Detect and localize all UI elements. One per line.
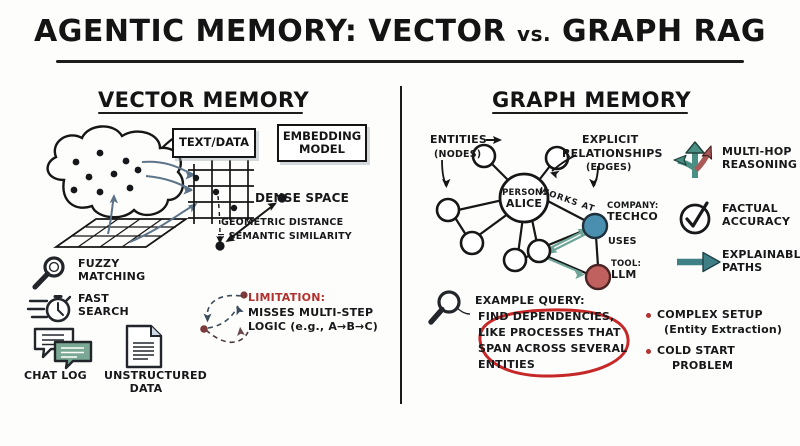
semantic-distance-dot	[215, 241, 224, 250]
cloud-vector-dots	[71, 150, 142, 196]
example-query-line-1: FIND DEPENDENCIES,	[478, 311, 614, 324]
node-label-alice: ALICE	[500, 198, 548, 211]
title-underline	[56, 60, 744, 63]
drawback-label-cold-start: COLD START	[657, 345, 735, 358]
annotation-entities-arrows	[424, 130, 494, 210]
example-query-line-3: SPAN ACROSS SEVERAL	[478, 343, 627, 356]
title-part-1: AGENTIC MEMORY: VECTOR	[34, 14, 517, 49]
limitation-body-line-1: MISSES MULTI-STEP	[248, 307, 373, 320]
embedding-model-box[interactable]: EMBEDDING MODEL	[277, 124, 367, 162]
left-panel-heading-underline	[98, 112, 303, 114]
page-title: AGENTIC MEMORY: VECTOR vs. GRAPH RAG	[0, 14, 800, 49]
annotation-explicit-line-1: EXPLICIT	[582, 134, 638, 147]
benefit-label-multi-hop-reasoning: MULTI-HOP REASONING	[722, 146, 797, 172]
feature-label-fuzzy-matching: FUZZY MATCHING	[78, 258, 145, 284]
drawback-bullet-2	[646, 349, 656, 359]
limitation-heading: LIMITATION:	[248, 292, 325, 305]
panel-divider	[400, 86, 402, 404]
annotation-explicit-arrows	[540, 150, 620, 196]
graph-node-mid	[528, 240, 550, 262]
source-label-chat-log: CHAT LOG	[24, 370, 87, 383]
geometric-distance-line-2: = SEMANTIC SIMILARITY	[217, 231, 352, 242]
edge-label-uses: USES	[608, 236, 637, 247]
right-arrow-icon	[676, 250, 726, 276]
right-panel-heading-underline	[492, 112, 688, 114]
source-label-unstructured-data: UNSTRUCTURED DATA	[104, 370, 188, 396]
dense-vector-grid	[188, 160, 254, 224]
benefit-label-factual-accuracy: FACTUAL ACCURACY	[722, 203, 790, 229]
example-query-line-2: LIKE PROCESSES THAT	[478, 327, 621, 340]
title-part-2: GRAPH RAG	[551, 14, 766, 49]
drawback-label-problem: PROBLEM	[672, 360, 733, 373]
left-panel-heading: VECTOR MEMORY	[98, 88, 309, 112]
magnifier-icon	[30, 256, 70, 292]
geometric-distance-line-1: GEOMETRIC DISTANCE	[221, 217, 343, 228]
branching-arrows-icon	[674, 138, 716, 180]
chat-bubbles-icon	[33, 326, 95, 368]
page-title-text: AGENTIC MEMORY: VECTOR vs. GRAPH RAG	[34, 14, 766, 49]
node-label-techco: TECHCO	[607, 211, 658, 224]
document-icon	[124, 324, 166, 370]
drawback-sublabel-entity-extraction: (Entity Extraction)	[664, 324, 782, 337]
arrow-cloud-grid-1	[142, 162, 194, 175]
edge-company-to-tool	[596, 236, 598, 266]
example-query-line-4: ENTITIES	[478, 359, 535, 372]
stopwatch-icon	[28, 292, 76, 326]
dense-space-label: DENSE SPACE	[255, 191, 349, 205]
feature-label-fast-search: FAST SEARCH	[78, 293, 129, 319]
infographic-canvas: AGENTIC MEMORY: VECTOR vs. GRAPH RAG VEC…	[0, 0, 800, 446]
limitation-body-line-2: LOGIC (e.g., A→B→C)	[248, 321, 378, 334]
drawback-label-complex-setup: COMPLEX SETUP	[657, 309, 763, 322]
check-circle-icon	[676, 199, 714, 237]
right-panel-heading: GRAPH MEMORY	[492, 88, 691, 112]
graph-node-tool-llm	[586, 265, 610, 289]
graph-node-bottom	[504, 249, 526, 271]
edge-mid-to-tool	[546, 256, 588, 274]
graph-node-lower-left	[461, 232, 483, 254]
graph-node-company-techco	[583, 214, 607, 238]
benefit-label-explainable-paths: EXPLAINABLE PATHS	[722, 249, 800, 275]
title-vs: vs.	[517, 22, 551, 46]
text-data-box[interactable]: TEXT/DATA	[172, 128, 256, 158]
node-label-llm: LLM	[611, 269, 637, 282]
drawback-bullet-1	[646, 313, 656, 323]
